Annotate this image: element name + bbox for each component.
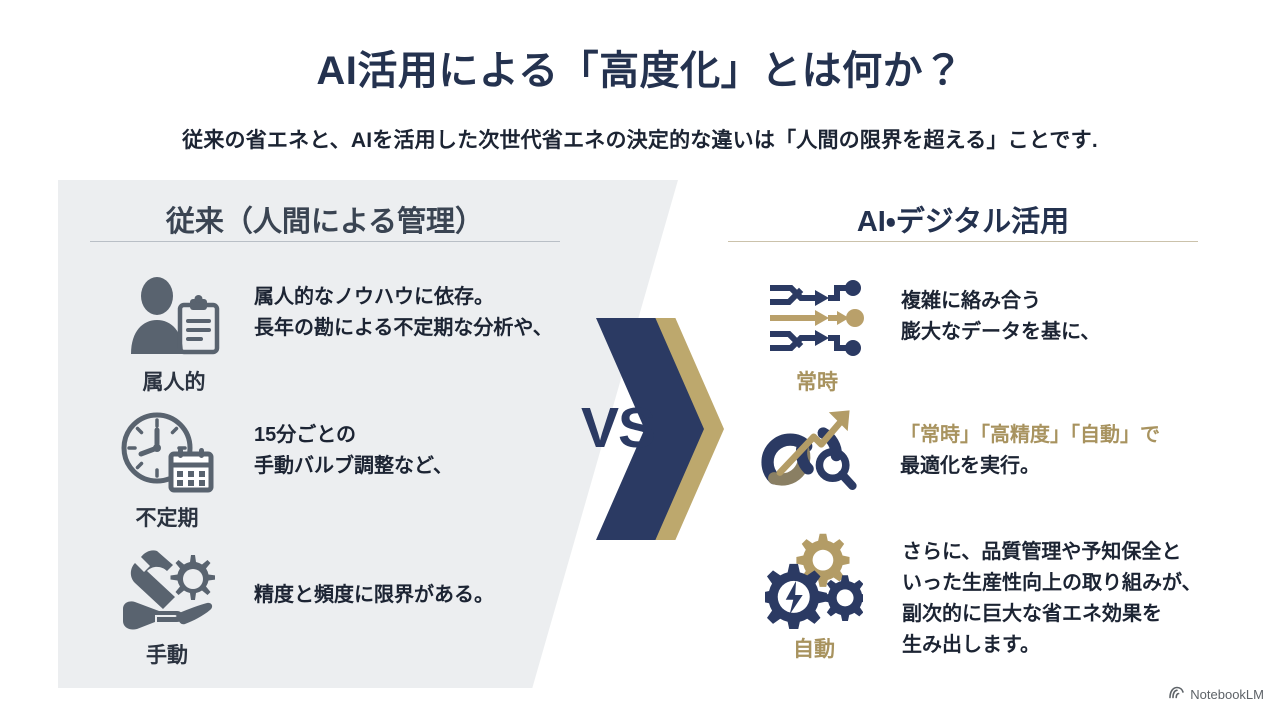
ai-item-row: 「常時」「高精度」「自動」で 最適化を実行。 xyxy=(748,404,1160,498)
ai-item-caption: 常時 xyxy=(796,366,838,396)
ai-item-icon-cell xyxy=(748,404,872,498)
legacy-item-text-line: 精度と頻度に限界がある。 xyxy=(254,580,494,611)
legacy-column-heading: 従来（人間による管理） xyxy=(90,198,560,240)
page-title: AI活用による「高度化」とは何か？ xyxy=(0,38,1280,96)
gears-automation-icon xyxy=(765,527,863,631)
legacy-item-text-line: 長年の勘による不定期な分析や、 xyxy=(254,313,553,344)
legacy-item-icon-cell: 不定期 xyxy=(105,408,229,532)
ai-item-text-line: 最適化を実行。 xyxy=(900,451,1160,482)
legacy-item-text: 精度と頻度に限界がある。 xyxy=(229,545,494,611)
ai-item-text-line: さらに、品質管理や予知保全と xyxy=(902,537,1202,568)
optimization-magnifier-icon xyxy=(761,404,859,496)
notebooklm-label: NotebookLM xyxy=(1190,687,1264,702)
legacy-item-text: 属人的なノウハウに依存。 長年の勘による不定期な分析や、 xyxy=(236,272,553,344)
ai-item-text-line: 生み出します。 xyxy=(902,630,1202,661)
ai-item-icon-cell: 常時 xyxy=(755,272,879,396)
legacy-item-caption: 手動 xyxy=(146,639,188,669)
legacy-item-text: 15分ごとの 手動バルブ調整など、 xyxy=(229,408,453,482)
ai-item-text-line: 「常時」「高精度」「自動」で xyxy=(900,420,1160,451)
legacy-item-icon-cell: 属人的 xyxy=(112,272,236,396)
ai-item-text-line: 副次的に巨大な省エネ効果を xyxy=(902,599,1202,630)
ai-column-heading: AI・デジタル活用 xyxy=(728,198,1198,240)
legacy-item-text-line: 属人的なノウハウに依存。 xyxy=(254,282,553,313)
legacy-item-row: 不定期 15分ごとの 手動バルブ調整など、 xyxy=(105,408,453,532)
person-clipboard-icon xyxy=(125,272,223,364)
page-subtitle: 従来の省エネと、AIを活用した次世代省エネの決定的な違いは「人間の限界を超える」… xyxy=(0,124,1280,154)
ai-item-text: 複雑に絡み合う 膨大なデータを基に、 xyxy=(879,272,1100,348)
notebooklm-watermark: NotebookLM xyxy=(1169,686,1264,702)
legacy-item-text-line: 15分ごとの xyxy=(254,420,453,451)
legacy-item-row: 手動 精度と頻度に限界がある。 xyxy=(105,545,494,669)
ai-item-text-line: 膨大なデータを基に、 xyxy=(901,317,1100,348)
legacy-item-icon-cell: 手動 xyxy=(105,545,229,669)
ai-item-text-line: いった生産性向上の取り組みが、 xyxy=(902,568,1202,599)
legacy-heading-divider xyxy=(90,241,560,242)
notebooklm-logo-icon xyxy=(1169,686,1184,702)
clock-calendar-icon xyxy=(118,408,216,500)
legacy-item-row: 属人的 属人的なノウハウに依存。 長年の勘による不定期な分析や、 xyxy=(112,272,553,396)
legacy-item-text-line: 手動バルブ調整など、 xyxy=(254,451,453,482)
ai-item-caption: 自動 xyxy=(793,633,835,663)
ai-item-text-line: 複雑に絡み合う xyxy=(901,286,1100,317)
vs-label: VS xyxy=(581,400,655,457)
data-flow-circuit-icon xyxy=(768,272,866,364)
hand-wrench-gear-icon xyxy=(118,545,216,637)
ai-item-text: さらに、品質管理や予知保全と いった生産性向上の取り組みが、 副次的に巨大な省エ… xyxy=(876,527,1202,661)
ai-item-text: 「常時」「高精度」「自動」で 最適化を実行。 xyxy=(872,404,1160,482)
ai-item-icon-cell: 自動 xyxy=(752,527,876,663)
legacy-item-caption: 不定期 xyxy=(136,502,199,532)
legacy-item-caption: 属人的 xyxy=(143,366,206,396)
slide-canvas: AI活用による「高度化」とは何か？ 従来の省エネと、AIを活用した次世代省エネの… xyxy=(0,0,1280,714)
ai-heading-divider xyxy=(728,241,1198,242)
ai-item-row: 自動 さらに、品質管理や予知保全と いった生産性向上の取り組みが、 副次的に巨大… xyxy=(752,527,1202,663)
ai-item-row: 常時 複雑に絡み合う 膨大なデータを基に、 xyxy=(755,272,1100,396)
